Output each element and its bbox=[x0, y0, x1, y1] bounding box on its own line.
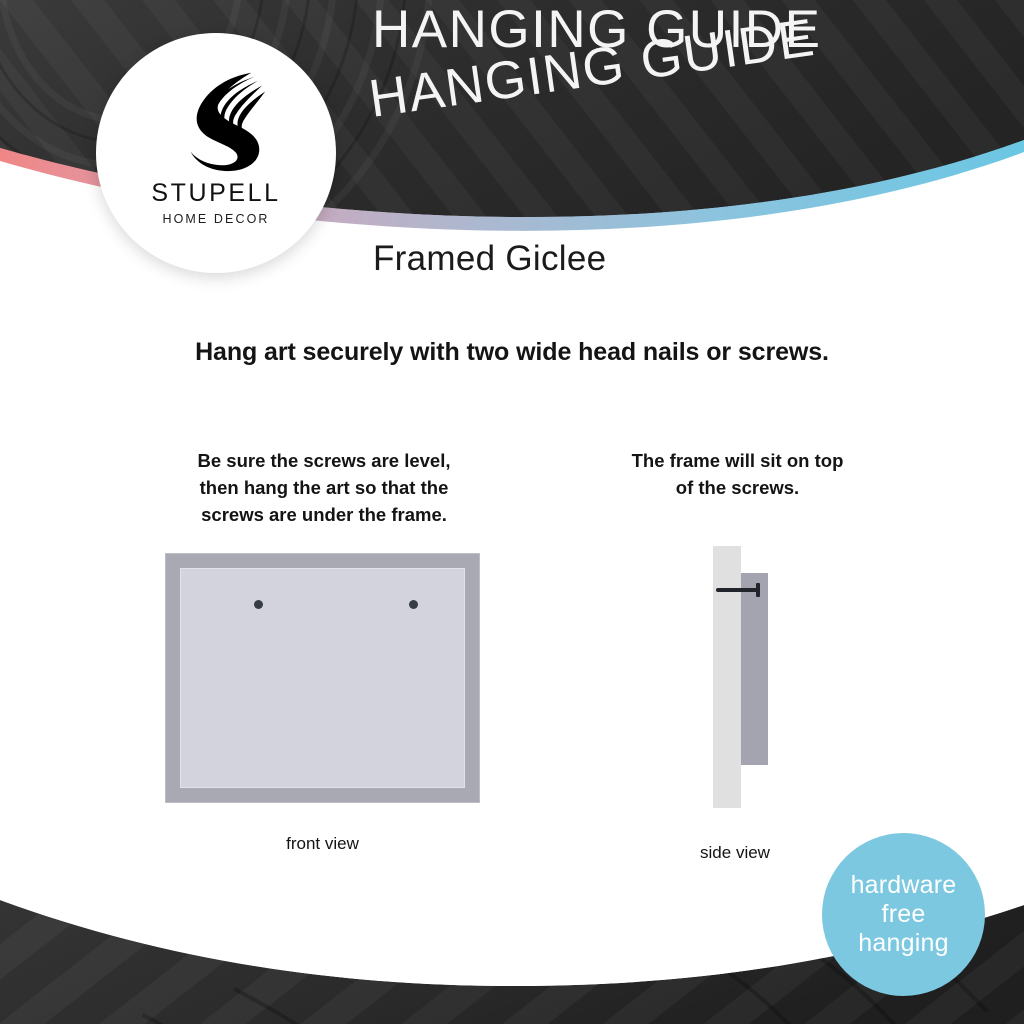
page-title: HANGING GUIDE HANGING GUIDE bbox=[372, 47, 892, 137]
front-view-caption-line-2: then hang the art so that the bbox=[159, 475, 489, 502]
front-view-label: front view bbox=[165, 834, 480, 854]
logo-tagline: HOME DECOR bbox=[162, 213, 269, 226]
screw-dot-left-icon bbox=[254, 600, 263, 609]
hardware-free-hanging-badge: hardware free hanging bbox=[822, 833, 985, 996]
product-type-title: Framed Giclee bbox=[373, 239, 606, 279]
screw-head-icon bbox=[756, 583, 760, 597]
badge-line-3: hanging bbox=[858, 929, 948, 958]
screw-dot-right-icon bbox=[409, 600, 418, 609]
side-view-caption: The frame will sit on top of the screws. bbox=[595, 448, 880, 502]
side-view-caption-line-1: The frame will sit on top bbox=[595, 448, 880, 475]
side-view-label: side view bbox=[660, 843, 810, 863]
stupell-swoosh-logo-icon bbox=[157, 59, 275, 177]
front-view-frame-interior bbox=[180, 568, 465, 788]
front-view-frame-diagram bbox=[165, 553, 480, 803]
badge-line-1: hardware bbox=[851, 871, 957, 900]
brand-logo-badge: STUPELL HOME DECOR bbox=[96, 33, 336, 273]
logo-brand-name: STUPELL bbox=[151, 181, 280, 206]
side-view-caption-line-2: of the screws. bbox=[595, 475, 880, 502]
front-view-caption: Be sure the screws are level, then hang … bbox=[159, 448, 489, 528]
badge-line-2: free bbox=[882, 900, 926, 929]
screw-shaft-icon bbox=[716, 588, 760, 592]
side-view-frame bbox=[741, 573, 768, 765]
front-view-caption-line-1: Be sure the screws are level, bbox=[159, 448, 489, 475]
hanging-guide-page: STUPELL HOME DECOR HANGING GUIDE HANGING… bbox=[0, 0, 1024, 1024]
side-view-wall bbox=[713, 546, 741, 808]
intro-instruction: Hang art securely with two wide head nai… bbox=[0, 338, 1024, 367]
front-view-caption-line-3: screws are under the frame. bbox=[159, 502, 489, 529]
side-view-frame-diagram bbox=[700, 540, 810, 815]
